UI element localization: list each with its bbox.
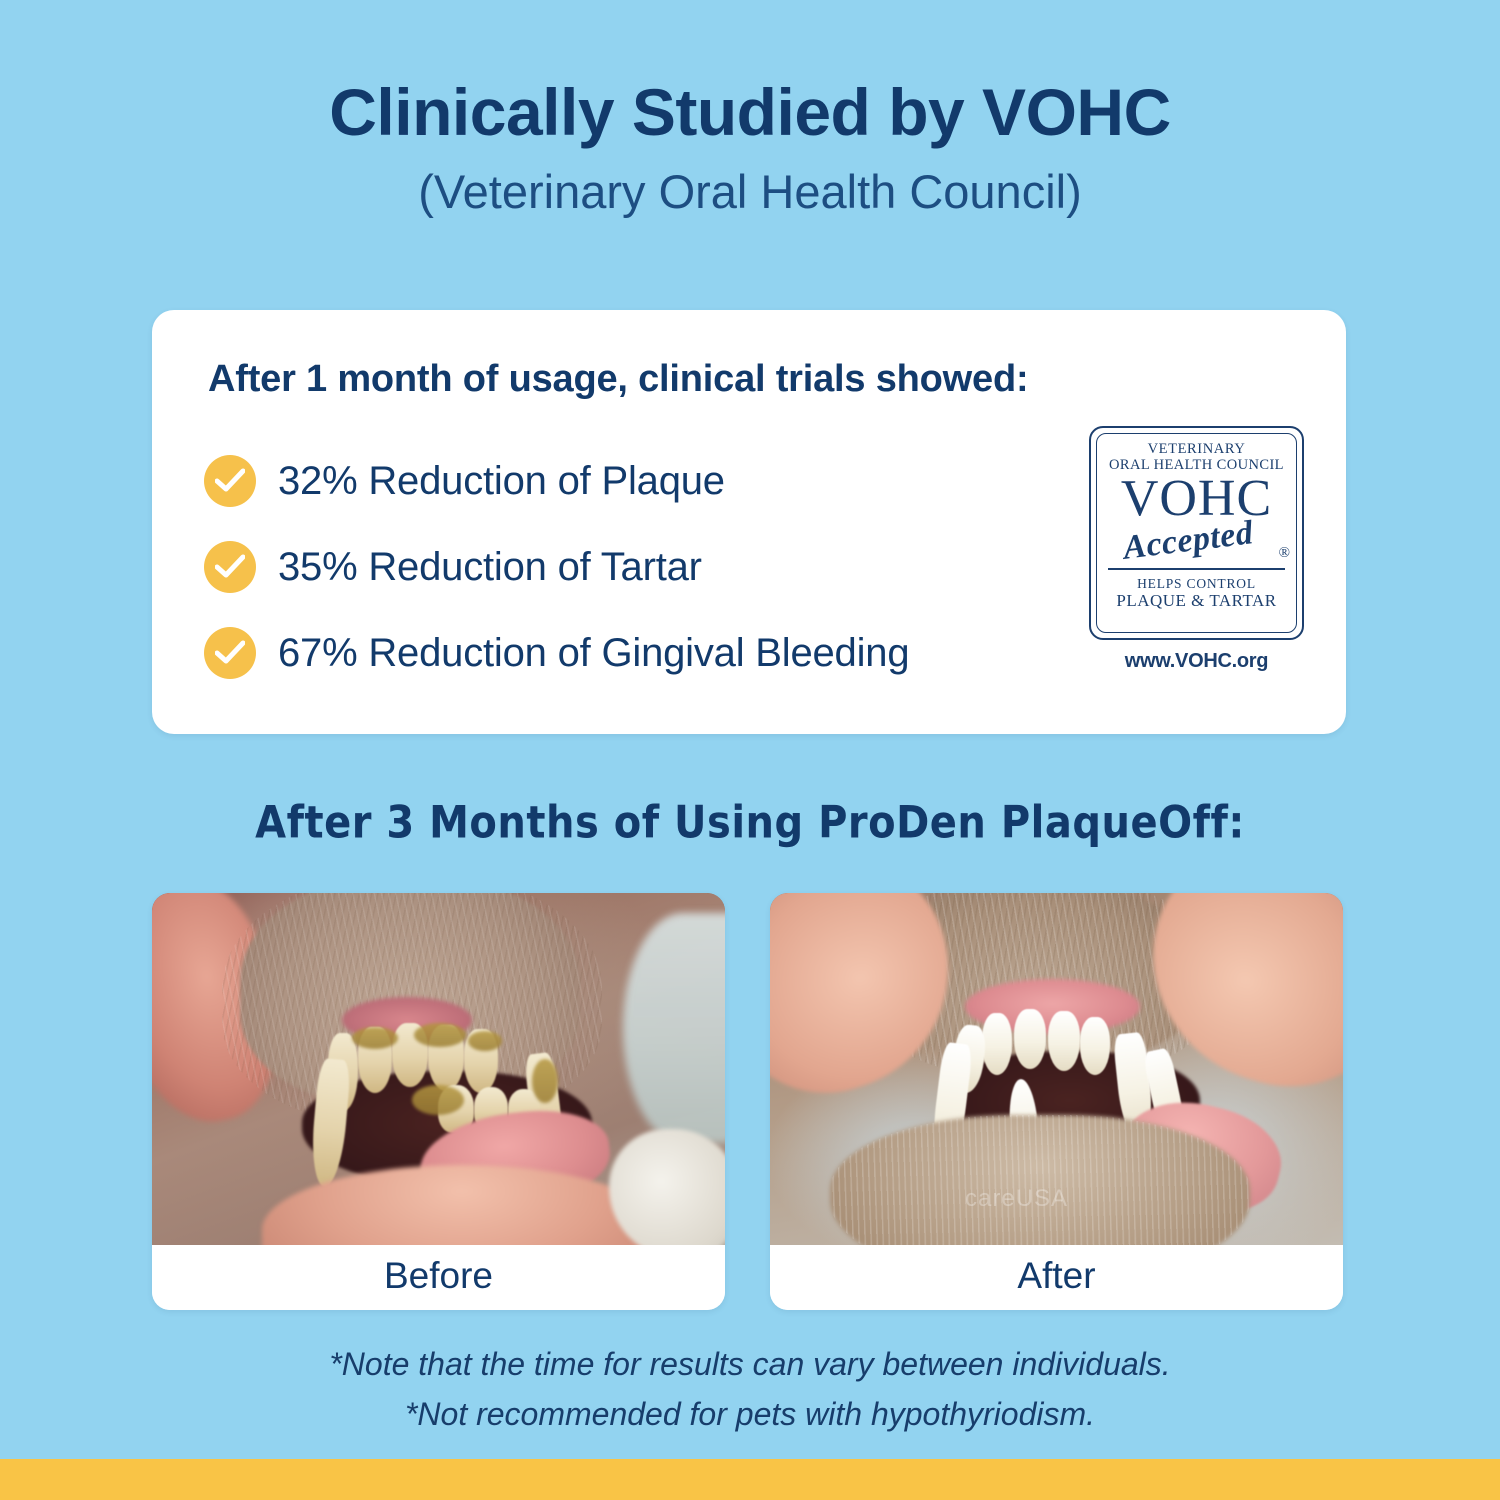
footnotes: *Note that the time for results can vary…: [0, 1340, 1500, 1439]
list-item: 67% Reduction of Gingival Bleeding: [204, 610, 1084, 696]
registered-mark-icon: ®: [1279, 545, 1290, 562]
list-item: 32% Reduction of Plaque: [204, 438, 1084, 524]
vohc-divider: [1108, 568, 1285, 570]
comparison-heading: After 3 Months of Using ProDen PlaqueOff…: [0, 797, 1500, 849]
photo-tartar: [468, 1031, 502, 1051]
photo-cloth: [609, 1129, 725, 1245]
vohc-accepted-script: Accepted: [1121, 515, 1255, 569]
list-item-label: 32% Reduction of Plaque: [278, 459, 725, 504]
photo-tartar: [352, 1027, 398, 1049]
vohc-helps-control: HELPS CONTROL: [1091, 576, 1302, 592]
page-title: Clinically Studied by VOHC: [0, 78, 1500, 148]
check-icon: [204, 627, 256, 679]
clinical-results-list: 32% Reduction of Plaque 35% Reduction of…: [204, 438, 1084, 696]
after-label: After: [770, 1245, 1343, 1310]
header: Clinically Studied by VOHC (Veterinary O…: [0, 78, 1500, 218]
clinical-results-card: After 1 month of usage, clinical trials …: [152, 310, 1346, 734]
photo-tartar: [532, 1059, 558, 1103]
infographic-page: Clinically Studied by VOHC (Veterinary O…: [0, 0, 1500, 1500]
vohc-acronym: VOHC: [1091, 474, 1302, 524]
clinical-results-heading: After 1 month of usage, clinical trials …: [208, 358, 1028, 401]
before-photo-card: Before: [152, 893, 725, 1310]
vohc-accepted-seal-icon: VETERINARY ORAL HEALTH COUNCIL VOHC Acce…: [1089, 426, 1304, 681]
list-item: 35% Reduction of Tartar: [204, 524, 1084, 610]
before-photo: [152, 893, 725, 1245]
before-label: Before: [152, 1245, 725, 1310]
photo-tartar: [412, 1085, 464, 1115]
after-photo-card: careUSA After: [770, 893, 1343, 1310]
vohc-accepted-row: Accepted ®: [1091, 520, 1302, 566]
photo-tooth: [982, 1013, 1012, 1075]
check-icon: [204, 541, 256, 593]
vohc-plaque-tartar: PLAQUE & TARTAR: [1091, 592, 1302, 611]
footnote-line-1: *Note that the time for results can vary…: [0, 1340, 1500, 1390]
list-item-label: 35% Reduction of Tartar: [278, 545, 702, 590]
photo-lower-fur-texture: [830, 1115, 1250, 1245]
vohc-url: www.VOHC.org: [1089, 650, 1304, 673]
photo-tooth: [1014, 1009, 1046, 1069]
vohc-seal-box: VETERINARY ORAL HEALTH COUNCIL VOHC Acce…: [1089, 426, 1304, 640]
bottom-accent-bar: [0, 1459, 1500, 1500]
photo-tooth: [1048, 1011, 1080, 1071]
list-item-label: 67% Reduction of Gingival Bleeding: [278, 631, 909, 676]
footnote-line-2: *Not recommended for pets with hypothyri…: [0, 1390, 1500, 1440]
photo-tartar: [414, 1023, 466, 1047]
photo-tooth: [1080, 1017, 1110, 1075]
page-subtitle: (Veterinary Oral Health Council): [0, 166, 1500, 218]
check-icon: [204, 455, 256, 507]
after-photo: careUSA: [770, 893, 1343, 1245]
vohc-line1: VETERINARY: [1091, 441, 1302, 457]
